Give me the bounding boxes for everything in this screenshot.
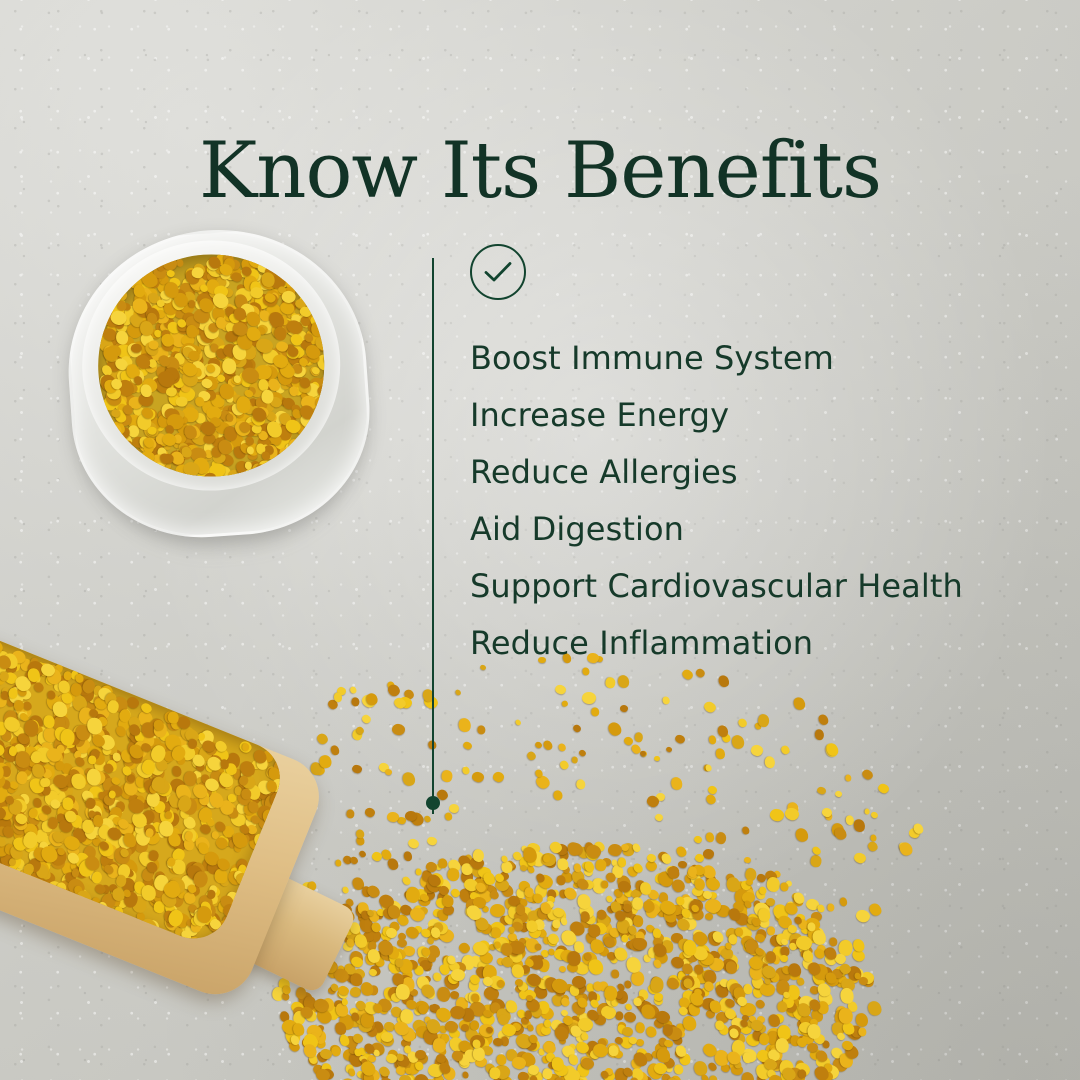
benefit-item: Reduce Allergies xyxy=(470,444,963,501)
poster-canvas: Know Its Benefits Boost Immune System In… xyxy=(0,0,1080,1080)
benefits-list: Boost Immune System Increase Energy Redu… xyxy=(470,330,963,672)
benefits-block: Boost Immune System Increase Energy Redu… xyxy=(432,244,963,672)
rail-end-dot-icon xyxy=(426,796,440,810)
page-title: Know Its Benefits xyxy=(0,132,1080,210)
wooden-scoop-of-pollen xyxy=(0,665,386,1039)
benefit-item: Boost Immune System xyxy=(470,330,963,387)
benefit-item: Reduce Inflammation xyxy=(470,615,963,672)
benefit-item: Support Cardiovascular Health xyxy=(470,558,963,615)
vertical-rule xyxy=(432,258,434,814)
benefit-item: Increase Energy xyxy=(470,387,963,444)
jar-pollen-fill xyxy=(91,247,332,484)
glass-jar-of-pollen xyxy=(51,215,388,566)
check-circle-icon xyxy=(470,244,526,300)
benefit-item: Aid Digestion xyxy=(470,501,963,558)
